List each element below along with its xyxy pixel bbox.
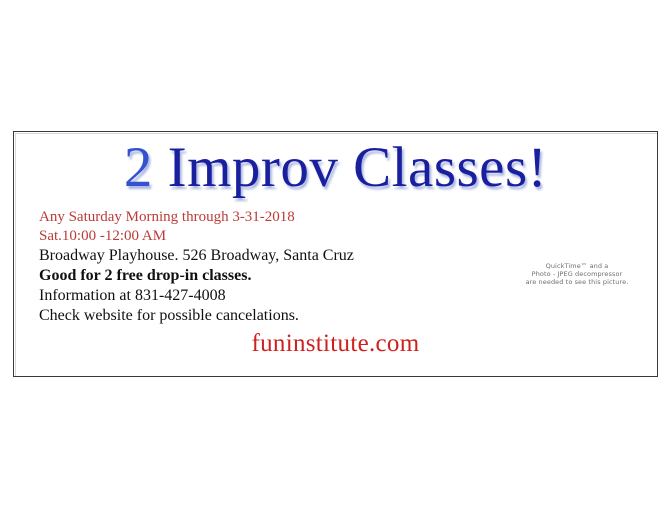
detail-line-times: Sat.10:00 -12:00 AM (39, 227, 469, 246)
headline-rest: Improv Classes! (153, 136, 547, 199)
detail-line-cancelations: Check website for possible cancelations. (39, 306, 469, 326)
quicktime-notice-line-3: are needed to see this picture. (501, 278, 653, 286)
headline-lead-number: 2 (124, 136, 153, 199)
quicktime-notice-line-2: Photo - JPEG decompressor (501, 270, 653, 278)
flyer-card: 2 Improv Classes! Any Saturday Morning t… (13, 131, 658, 377)
quicktime-notice-line-1: QuickTime™ and a (501, 262, 653, 270)
detail-line-dates: Any Saturday Morning through 3-31-2018 (39, 208, 469, 227)
website-url[interactable]: funinstitute.com (14, 330, 657, 358)
detail-line-phone: Information at 831-427-4008 (39, 286, 469, 306)
detail-line-offer: Good for 2 free drop-in classes. (39, 266, 469, 286)
flyer-details-block: Any Saturday Morning through 3-31-2018 S… (39, 208, 469, 326)
quicktime-placeholder-notice: QuickTime™ and a Photo - JPEG decompress… (501, 262, 653, 287)
flyer-headline: 2 Improv Classes! (14, 138, 657, 198)
detail-line-venue: Broadway Playhouse. 526 Broadway, Santa … (39, 246, 469, 266)
